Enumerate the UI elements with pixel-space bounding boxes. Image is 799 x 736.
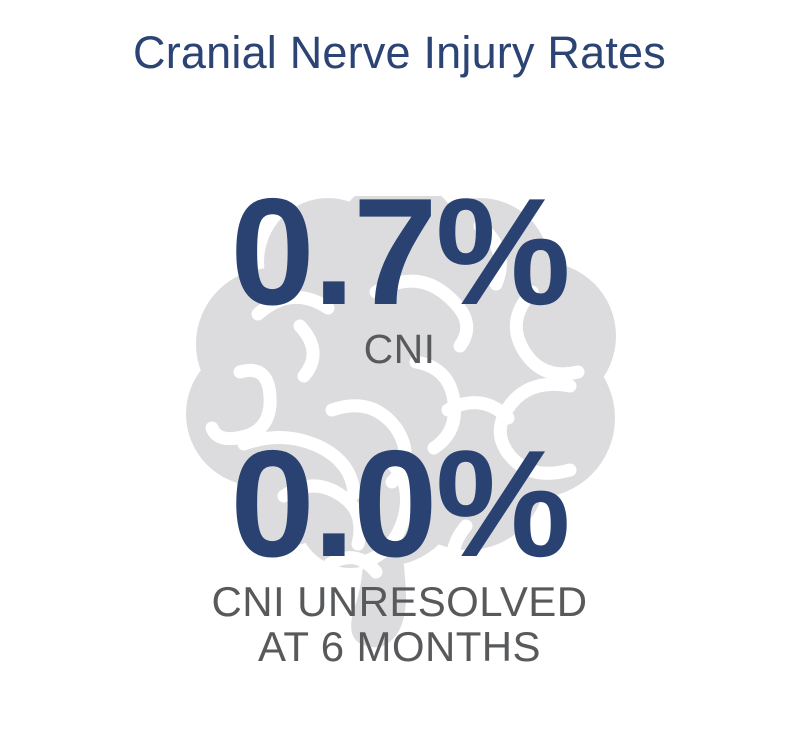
stat-label-cni: CNI xyxy=(0,328,799,372)
stat-block-cni-unresolved: 0.0% CNI UNRESOLVED AT 6 MONTHS xyxy=(0,428,799,670)
stat-block-cni: 0.7% CNI xyxy=(0,176,799,372)
stat-label-cni-unresolved: CNI UNRESOLVED AT 6 MONTHS xyxy=(0,580,799,670)
stat-label-line: AT 6 MONTHS xyxy=(0,625,799,670)
stat-label-line: CNI UNRESOLVED xyxy=(0,580,799,625)
stat-label-line: CNI xyxy=(0,328,799,372)
stats-stack: 0.7% CNI 0.0% CNI UNRESOLVED AT 6 MONTHS xyxy=(0,0,799,736)
stat-value-cni: 0.7% xyxy=(0,176,799,328)
stat-value-cni-unresolved: 0.0% xyxy=(0,428,799,580)
infographic-card: Cranial Nerve Injury Rates xyxy=(0,0,799,736)
